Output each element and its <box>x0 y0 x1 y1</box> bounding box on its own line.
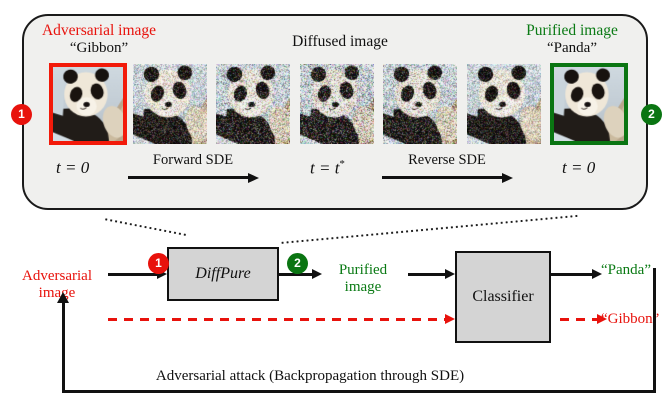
badge-two-flow: 2 <box>287 253 308 274</box>
output-wrong-label: “Gibbon” <box>601 311 672 328</box>
flow-purified-line-2: image <box>345 279 382 295</box>
figure-canvas: Adversarial image “Gibbon” Diffused imag… <box>0 0 672 404</box>
feedback-line-bottom <box>62 390 656 393</box>
flow-purified-label: Purified image <box>321 262 405 297</box>
flow-purified-line-1: Purified <box>339 262 387 278</box>
purified-image-label: Purified image <box>497 22 647 39</box>
thumbnail-diffused-step-2 <box>216 64 290 144</box>
panda-image <box>216 64 290 144</box>
feedback-line-left <box>62 302 65 392</box>
forward-sde-label: Forward SDE <box>128 152 258 169</box>
arrow-classifier-to-output <box>551 269 603 280</box>
thumbnail-diffused-step-1 <box>133 64 207 144</box>
leader-line-right <box>280 215 579 244</box>
thumbnail-diffused-step-4 <box>383 64 457 144</box>
time-label-mid: t = t* <box>310 158 345 179</box>
panda-image <box>467 64 541 144</box>
feedback-arrowhead-icon <box>57 292 69 303</box>
diffused-image-label: Diffused image <box>240 33 440 50</box>
feedback-line-right <box>653 268 656 392</box>
forward-sde-arrow-icon <box>128 172 260 184</box>
thumbnail-purified-image <box>550 63 628 145</box>
panda-image <box>554 67 624 141</box>
time-label-start: t = 0 <box>56 158 89 178</box>
output-correct-label: “Panda” <box>601 262 671 279</box>
badge-one-flow: 1 <box>148 253 169 274</box>
panda-image <box>133 64 207 144</box>
reverse-sde-arrow-icon <box>382 172 514 184</box>
attack-dashed-line-left <box>108 318 446 321</box>
panda-image <box>383 64 457 144</box>
time-label-end: t = 0 <box>562 158 595 178</box>
badge-one-panel: 1 <box>11 104 32 125</box>
adversarial-image-label: Adversarial image <box>24 22 174 39</box>
feedback-caption: Adversarial attack (Backpropagation thro… <box>80 368 540 385</box>
attack-arrowhead-left-icon <box>445 314 455 324</box>
purified-class-label: “Panda” <box>497 40 647 57</box>
thumbnail-diffused-step-3 <box>300 64 374 144</box>
badge-two-panel: 2 <box>641 104 662 125</box>
flow-input-line-1: Adversarial <box>22 268 92 284</box>
thumbnail-adversarial-image <box>49 63 127 145</box>
arrow-purified-to-classifier <box>408 269 456 280</box>
adversarial-class-label: “Gibbon” <box>24 40 174 57</box>
reverse-sde-label: Reverse SDE <box>382 152 512 169</box>
panda-image <box>53 67 123 141</box>
diffusion-thumbnail-strip <box>49 64 623 144</box>
time-label-mid-superscript: * <box>339 158 345 170</box>
leader-line-left <box>104 218 187 236</box>
diffpure-box: DiffPure <box>167 247 279 301</box>
thumbnail-diffused-step-5 <box>467 64 541 144</box>
attack-dashed-line-right <box>560 318 598 321</box>
time-label-mid-text: t = t <box>310 159 339 178</box>
classifier-box: Classifier <box>455 251 551 343</box>
panda-image <box>300 64 374 144</box>
